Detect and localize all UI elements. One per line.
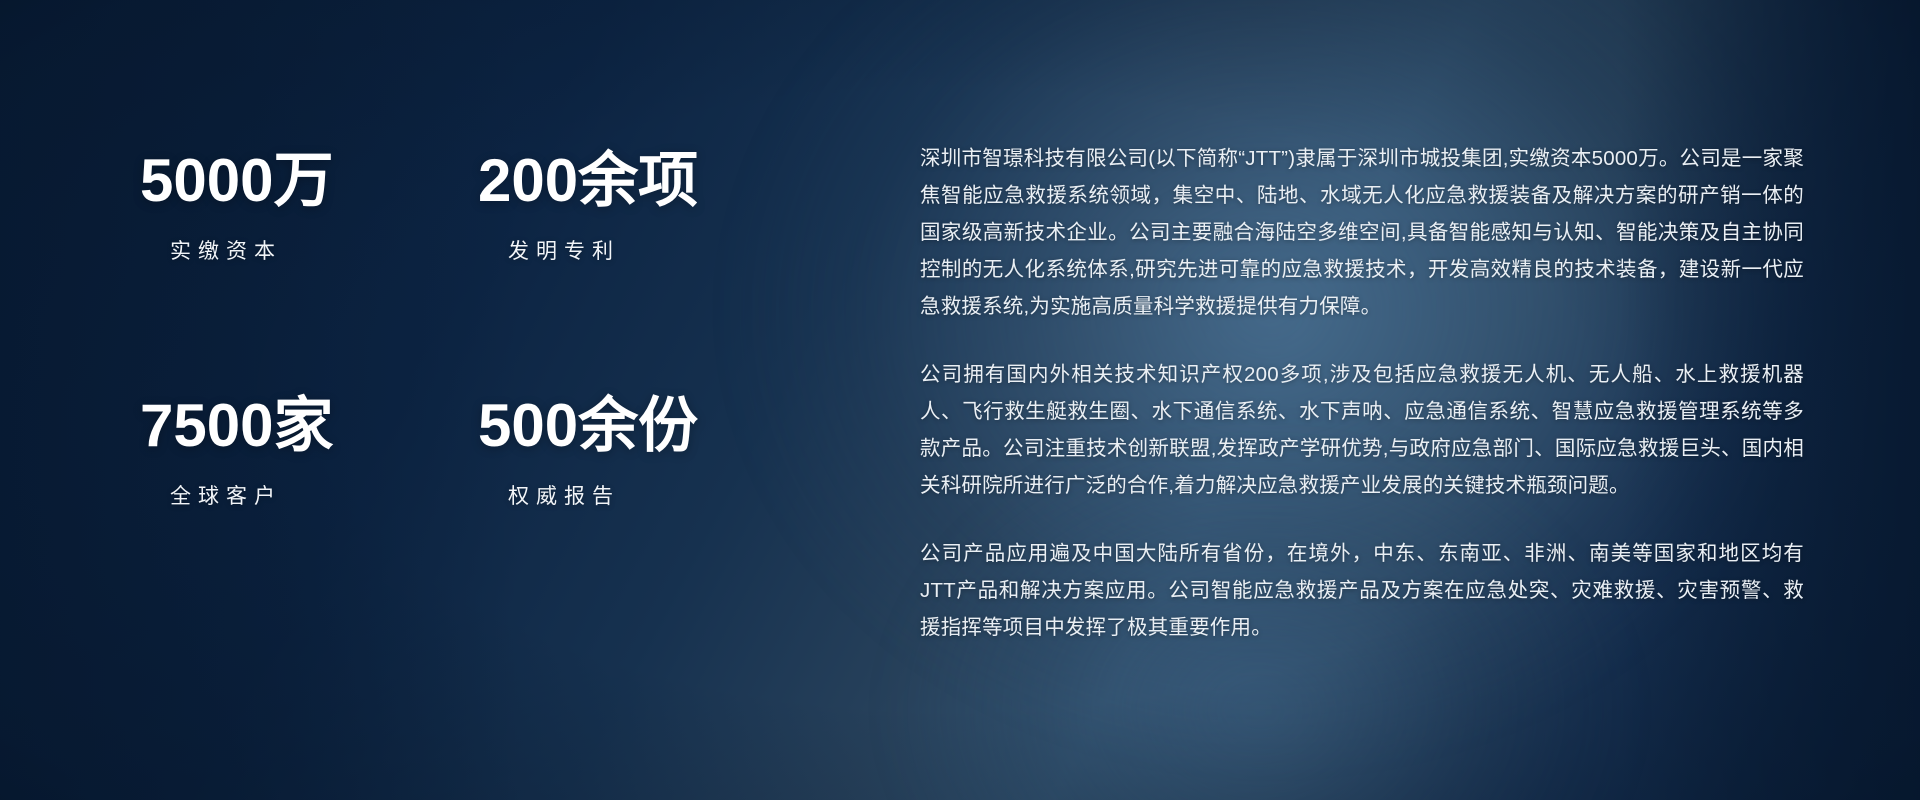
company-stats-grid: 5000万 实缴资本 200余项 发明专利 7500家 全球客户 500余份 权… [140, 150, 840, 510]
stat-label: 实缴资本 [140, 235, 470, 265]
stat-item-global-customers: 7500家 全球客户 [140, 395, 470, 510]
description-paragraph-2: 公司拥有国内外相关技术知识产权200多项,涉及包括应急救援无人机、无人船、水上救… [920, 356, 1804, 504]
description-paragraph-3: 公司产品应用遍及中国大陆所有省份，在境外，中东、东南亚、非洲、南美等国家和地区均… [920, 535, 1804, 646]
stat-value: 5000万 [140, 150, 470, 211]
stat-label: 全球客户 [140, 480, 470, 510]
company-description: 深圳市智璟科技有限公司(以下简称“JTT”)隶属于深圳市城投集团,实缴资本500… [920, 140, 1804, 646]
stat-value: 500余份 [470, 395, 800, 456]
stat-label: 权威报告 [470, 480, 800, 510]
stat-item-paid-in-capital: 5000万 实缴资本 [140, 150, 470, 395]
stat-value: 7500家 [140, 395, 470, 456]
stat-item-invention-patents: 200余项 发明专利 [470, 150, 800, 395]
stat-item-authoritative-reports: 500余份 权威报告 [470, 395, 800, 510]
description-paragraph-1: 深圳市智璟科技有限公司(以下简称“JTT”)隶属于深圳市城投集团,实缴资本500… [920, 140, 1804, 325]
stat-label: 发明专利 [470, 235, 800, 265]
stat-value: 200余项 [470, 150, 800, 211]
page-content: 5000万 实缴资本 200余项 发明专利 7500家 全球客户 500余份 权… [0, 0, 1920, 800]
